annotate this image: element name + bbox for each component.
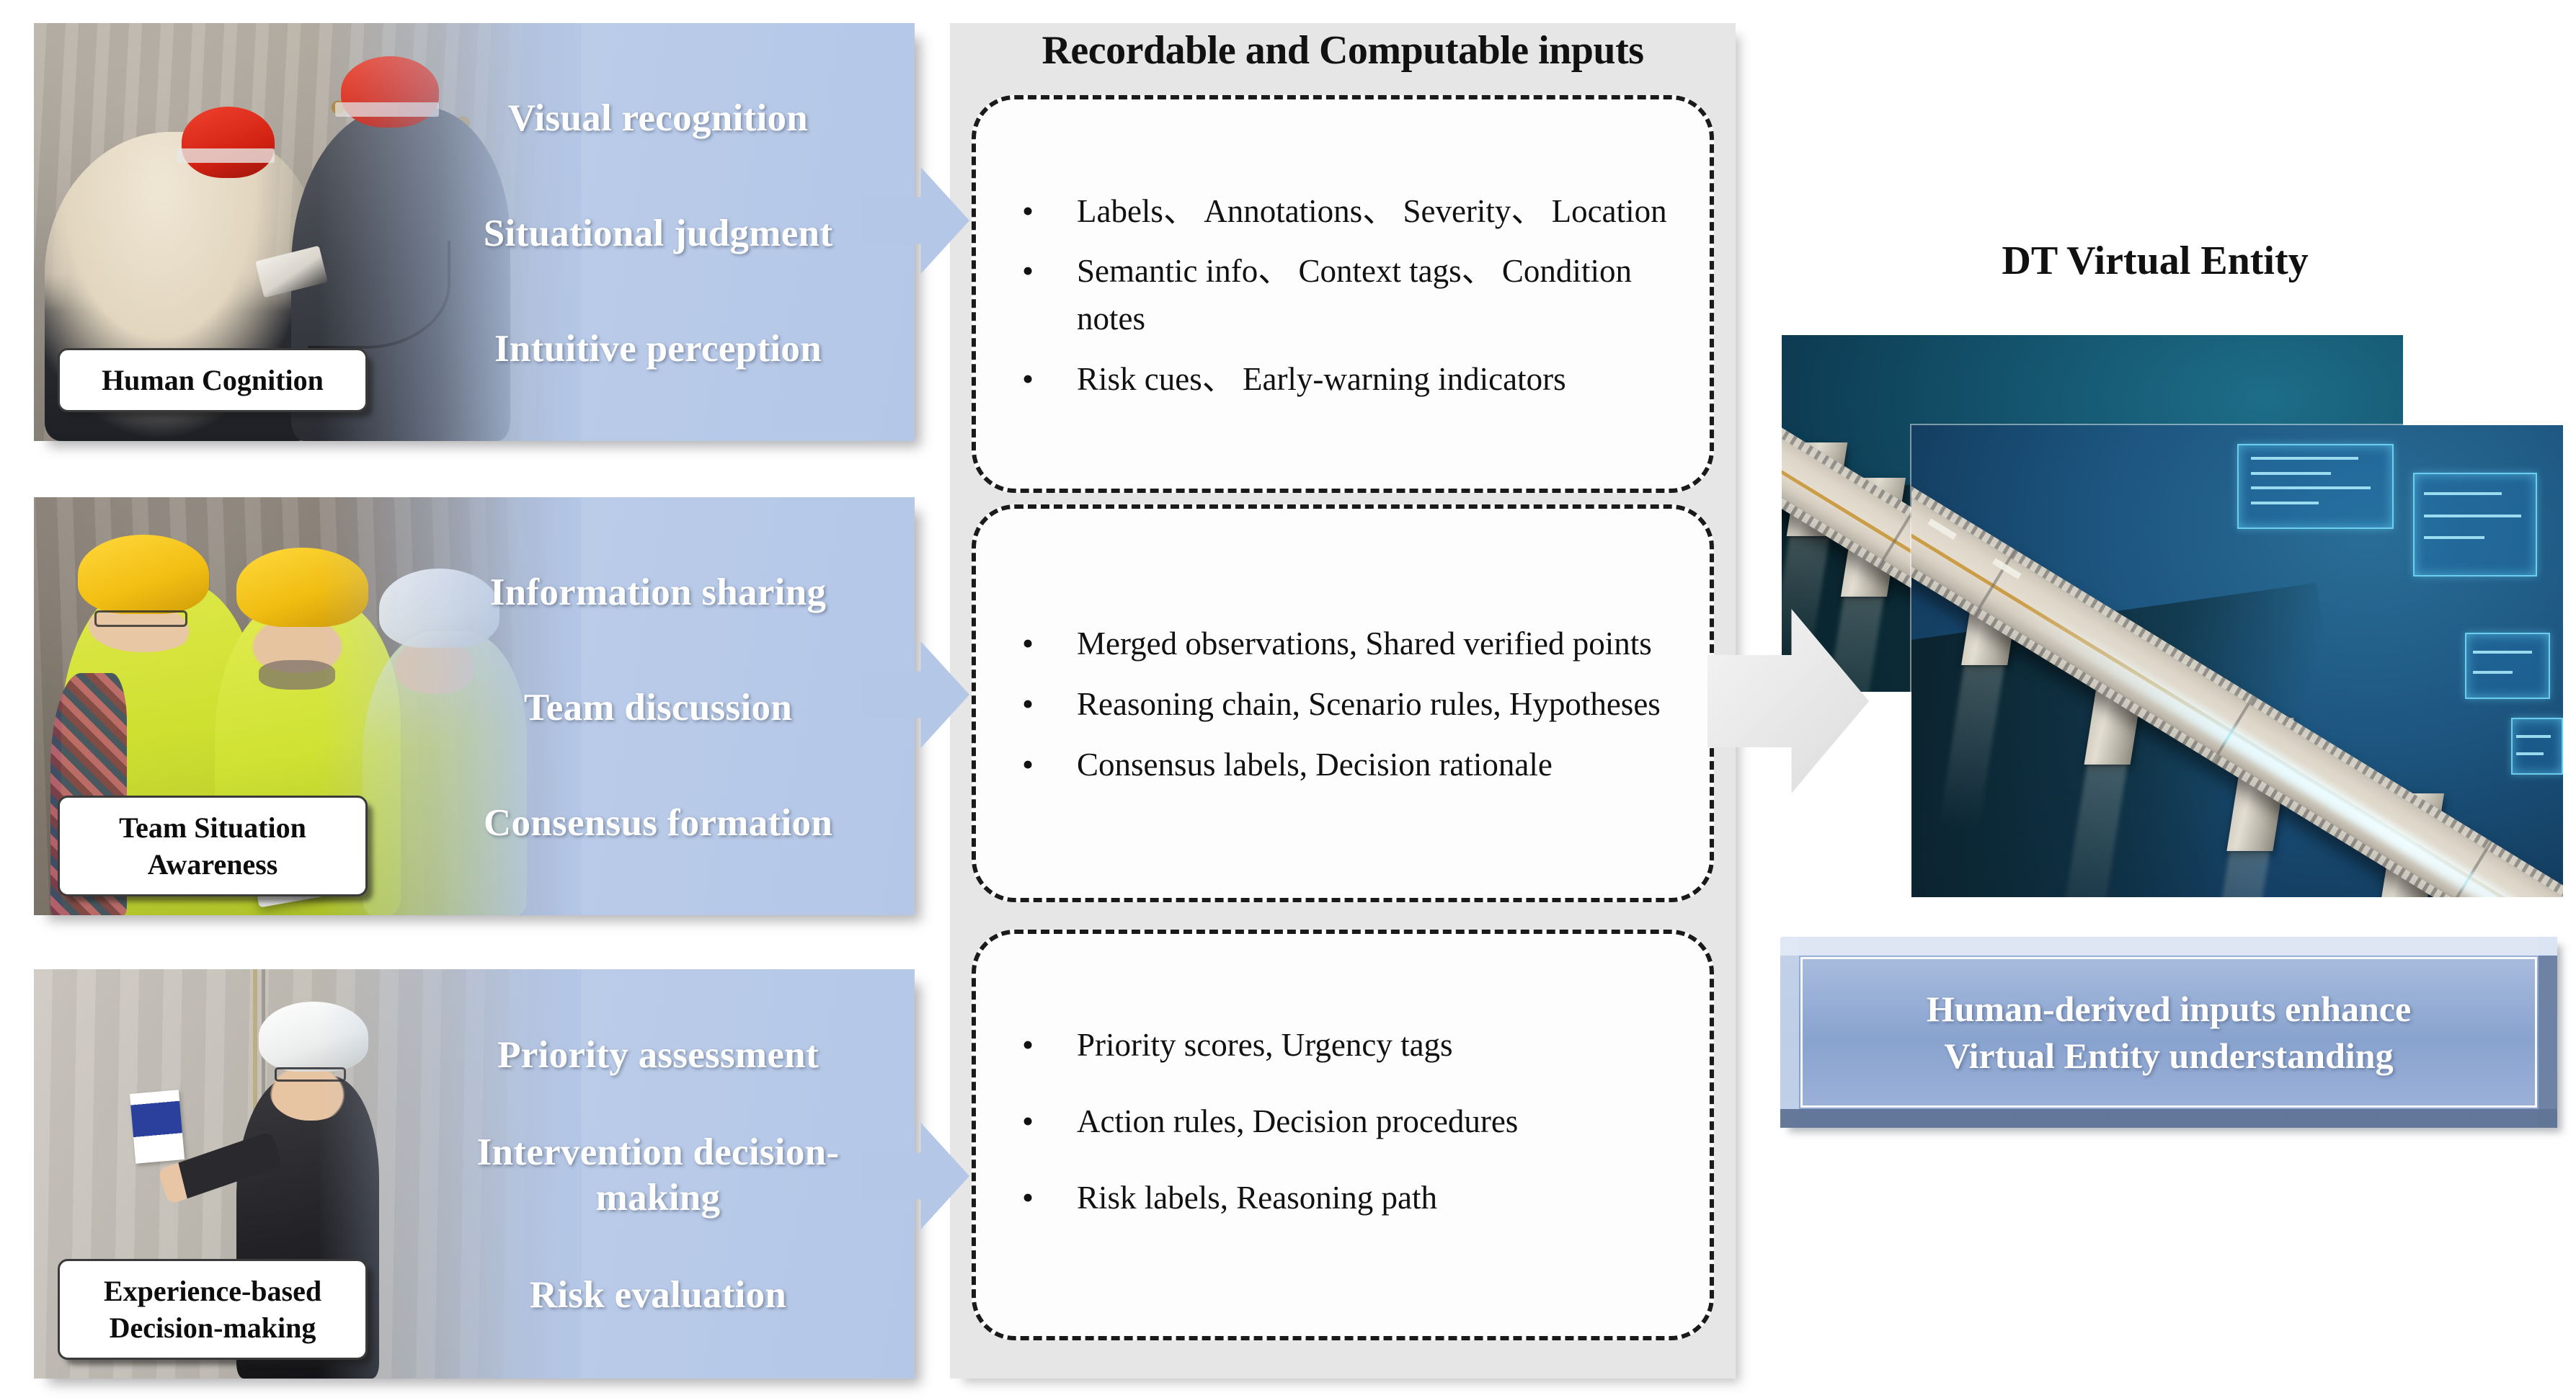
hud-panel-icon <box>2465 633 2550 699</box>
dt-virtual-entity-title: DT Virtual Entity <box>1787 238 2523 284</box>
inputs-box-human-cognition: Labels、 Annotations、 Severity、 Location … <box>972 95 1714 493</box>
input-item: Labels、 Annotations、 Severity、 Location <box>1002 188 1685 236</box>
input-item: Merged observations, Shared verified poi… <box>1002 620 1685 668</box>
input-item: Risk labels, Reasoning path <box>1002 1175 1685 1222</box>
human-cognition-panel: Visual recognition Situational judgment … <box>34 23 915 441</box>
cue-item: Priority assessment <box>420 1033 896 1078</box>
cue-item: Visual recognition <box>420 96 896 141</box>
human-cognition-cues: Visual recognition Situational judgment … <box>420 23 896 441</box>
experience-based-decision-making-cues: Priority assessment Intervention decisio… <box>420 969 896 1379</box>
inputs-box-experience-based-decision-making: Priority scores, Urgency tags Action rul… <box>972 930 1714 1340</box>
recordable-inputs-title: Recordable and Computable inputs <box>950 27 1736 74</box>
team-situation-awareness-label: Team Situation Awareness <box>58 796 368 896</box>
hud-panel-icon <box>2511 718 2563 775</box>
input-item: Risk cues、 Early-warning indicators <box>1002 356 1685 404</box>
human-cognition-label: Human Cognition <box>58 348 368 412</box>
input-item: Priority scores, Urgency tags <box>1002 1022 1685 1069</box>
input-item: Reasoning chain, Scenario rules, Hypothe… <box>1002 681 1685 729</box>
input-item: Semantic info、 Context tags、 Condition n… <box>1002 248 1685 342</box>
cue-item: Situational judgment <box>420 211 896 257</box>
cue-item: Team discussion <box>420 685 896 731</box>
experience-based-decision-making-label: Experience-based Decision-making <box>58 1259 368 1360</box>
team-situation-awareness-cues: Information sharing Team discussion Cons… <box>420 497 896 915</box>
inputs-box-team-situation-awareness: Merged observations, Shared verified poi… <box>972 504 1714 902</box>
cue-item: Information sharing <box>420 570 896 615</box>
cue-item: Risk evaluation <box>420 1273 896 1318</box>
input-item: Action rules, Decision procedures <box>1002 1098 1685 1146</box>
hud-panel-icon <box>2413 473 2537 576</box>
team-situation-awareness-panel: Information sharing Team discussion Cons… <box>34 497 915 915</box>
bridge-digital-twin-photo <box>1911 425 2563 897</box>
human-derived-inputs-banner: Human-derived inputs enhance Virtual Ent… <box>1780 937 2557 1128</box>
experience-based-decision-making-panel: Priority assessment Intervention decisio… <box>34 969 915 1379</box>
banner-text: Human-derived inputs enhance Virtual Ent… <box>1927 986 2411 1079</box>
cue-item: Consensus formation <box>420 801 896 846</box>
cue-item: Intervention decision- making <box>420 1130 896 1220</box>
hud-panel-icon <box>2237 444 2394 529</box>
input-item: Consensus labels, Decision rationale <box>1002 742 1685 789</box>
cue-item: Intuitive perception <box>420 326 896 372</box>
